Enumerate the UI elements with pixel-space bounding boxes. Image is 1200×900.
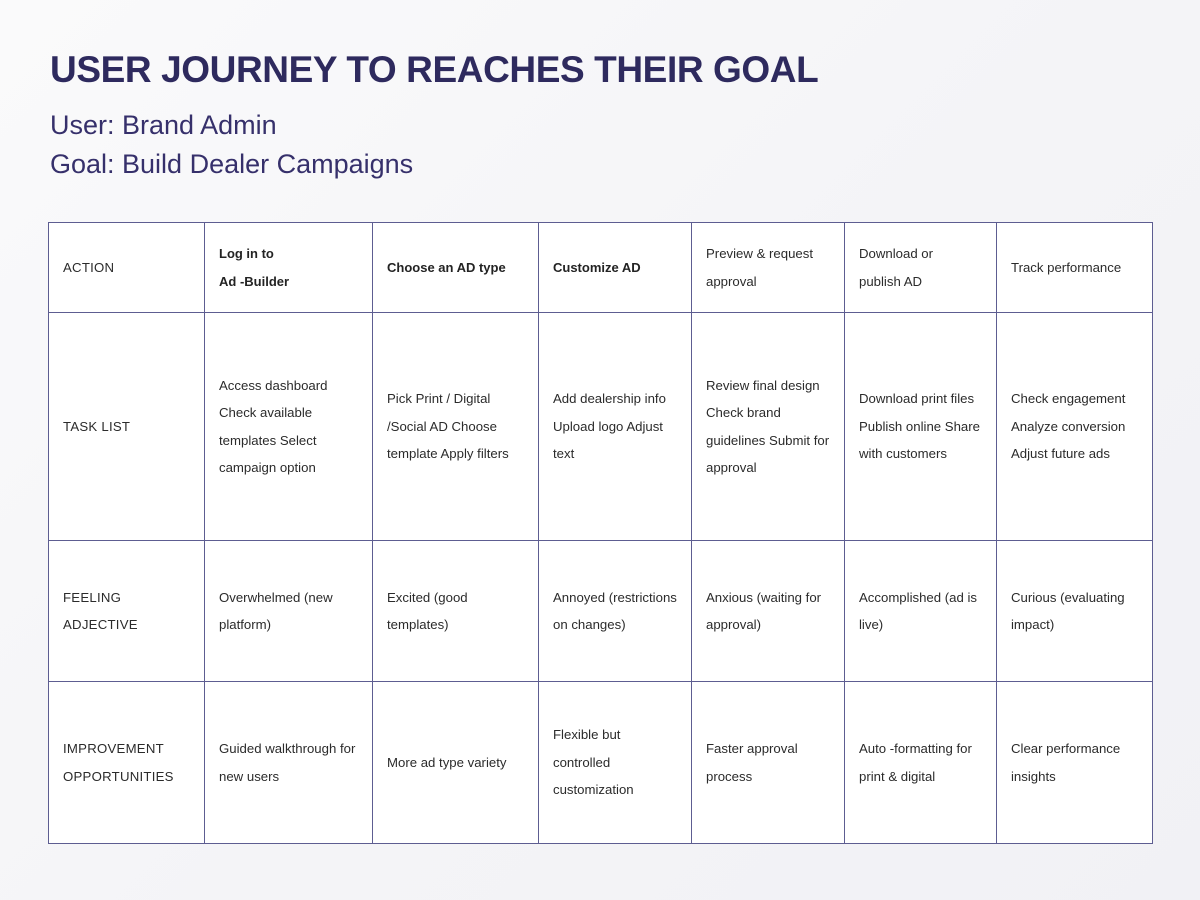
table-row-feeling-adjective: FEELING ADJECTIVE Overwhelmed (new platf… xyxy=(49,541,1153,682)
task-list-cell-choose-ad-type: Pick Print / Digital /Social AD Choose t… xyxy=(373,313,539,541)
feeling-cell-track-performance: Curious (evaluating impact) xyxy=(997,541,1153,682)
feeling-cell-customize-ad: Annoyed (restrictions on changes) xyxy=(539,541,692,682)
stage-download-line2: publish AD xyxy=(859,268,982,296)
row-label-improvement-opportunities: IMPROVEMENT OPPORTUNITIES xyxy=(49,682,205,844)
table-row-task-list: TASK LIST Access dashboard Check availab… xyxy=(49,313,1153,541)
stage-cell-choose-ad-type: Choose an AD type xyxy=(373,223,539,313)
stage-login-line1: Log in to xyxy=(219,240,358,268)
feeling-cell-login: Overwhelmed (new platform) xyxy=(205,541,373,682)
improvement-cell-track-performance: Clear performance insights xyxy=(997,682,1153,844)
goal-line: Goal: Build Dealer Campaigns xyxy=(50,145,1160,184)
journey-map-page: USER JOURNEY TO REACHES THEIR GOAL User:… xyxy=(0,0,1200,900)
feeling-cell-choose-ad-type: Excited (good templates) xyxy=(373,541,539,682)
row-label-task-list: TASK LIST xyxy=(49,313,205,541)
stage-cell-login: Log in to Ad -Builder xyxy=(205,223,373,313)
row-label-improvement-line2: OPPORTUNITIES xyxy=(63,763,190,791)
user-line: User: Brand Admin xyxy=(50,106,1160,145)
stage-preview-line2: approval xyxy=(706,268,830,296)
improvement-cell-customize-ad: Flexible but controlled customization xyxy=(539,682,692,844)
stage-choose-line1: Choose an AD type xyxy=(387,254,524,282)
feeling-cell-preview-approval: Anxious (waiting for approval) xyxy=(692,541,845,682)
improvement-cell-choose-ad-type: More ad type variety xyxy=(373,682,539,844)
stage-track-line1: Track performance xyxy=(1011,254,1138,282)
row-label-feeling-line1: FEELING xyxy=(63,584,190,612)
journey-table: ACTION Log in to Ad -Builder Choose an A… xyxy=(48,222,1153,844)
stage-cell-download-publish: Download or publish AD xyxy=(845,223,997,313)
table-row-action: ACTION Log in to Ad -Builder Choose an A… xyxy=(49,223,1153,313)
feeling-cell-download-publish: Accomplished (ad is live) xyxy=(845,541,997,682)
task-list-cell-track-performance: Check engagement Analyze conversion Adju… xyxy=(997,313,1153,541)
row-label-feeling-adjective: FEELING ADJECTIVE xyxy=(49,541,205,682)
row-label-feeling-line2: ADJECTIVE xyxy=(63,611,190,639)
improvement-cell-login: Guided walkthrough for new users xyxy=(205,682,373,844)
stage-customize-line1: Customize AD xyxy=(553,254,677,282)
row-label-improvement-line1: IMPROVEMENT xyxy=(63,735,190,763)
task-list-cell-download-publish: Download print files Publish online Shar… xyxy=(845,313,997,541)
improvement-cell-download-publish: Auto -formatting for print & digital xyxy=(845,682,997,844)
heading-block: USER JOURNEY TO REACHES THEIR GOAL User:… xyxy=(50,48,1160,184)
stage-preview-line1: Preview & request xyxy=(706,240,830,268)
stage-cell-track-performance: Track performance xyxy=(997,223,1153,313)
stage-cell-customize-ad: Customize AD xyxy=(539,223,692,313)
task-list-cell-preview-approval: Review final design Check brand guidelin… xyxy=(692,313,845,541)
table-row-improvement-opportunities: IMPROVEMENT OPPORTUNITIES Guided walkthr… xyxy=(49,682,1153,844)
stage-login-line2: Ad -Builder xyxy=(219,268,358,296)
improvement-cell-preview-approval: Faster approval process xyxy=(692,682,845,844)
stage-cell-preview-approval: Preview & request approval xyxy=(692,223,845,313)
task-list-cell-customize-ad: Add dealership info Upload logo Adjust t… xyxy=(539,313,692,541)
stage-download-line1: Download or xyxy=(859,240,982,268)
page-title: USER JOURNEY TO REACHES THEIR GOAL xyxy=(50,48,1160,92)
task-list-cell-login: Access dashboard Check available templat… xyxy=(205,313,373,541)
subtitle-block: User: Brand Admin Goal: Build Dealer Cam… xyxy=(50,106,1160,184)
row-label-action: ACTION xyxy=(49,223,205,313)
